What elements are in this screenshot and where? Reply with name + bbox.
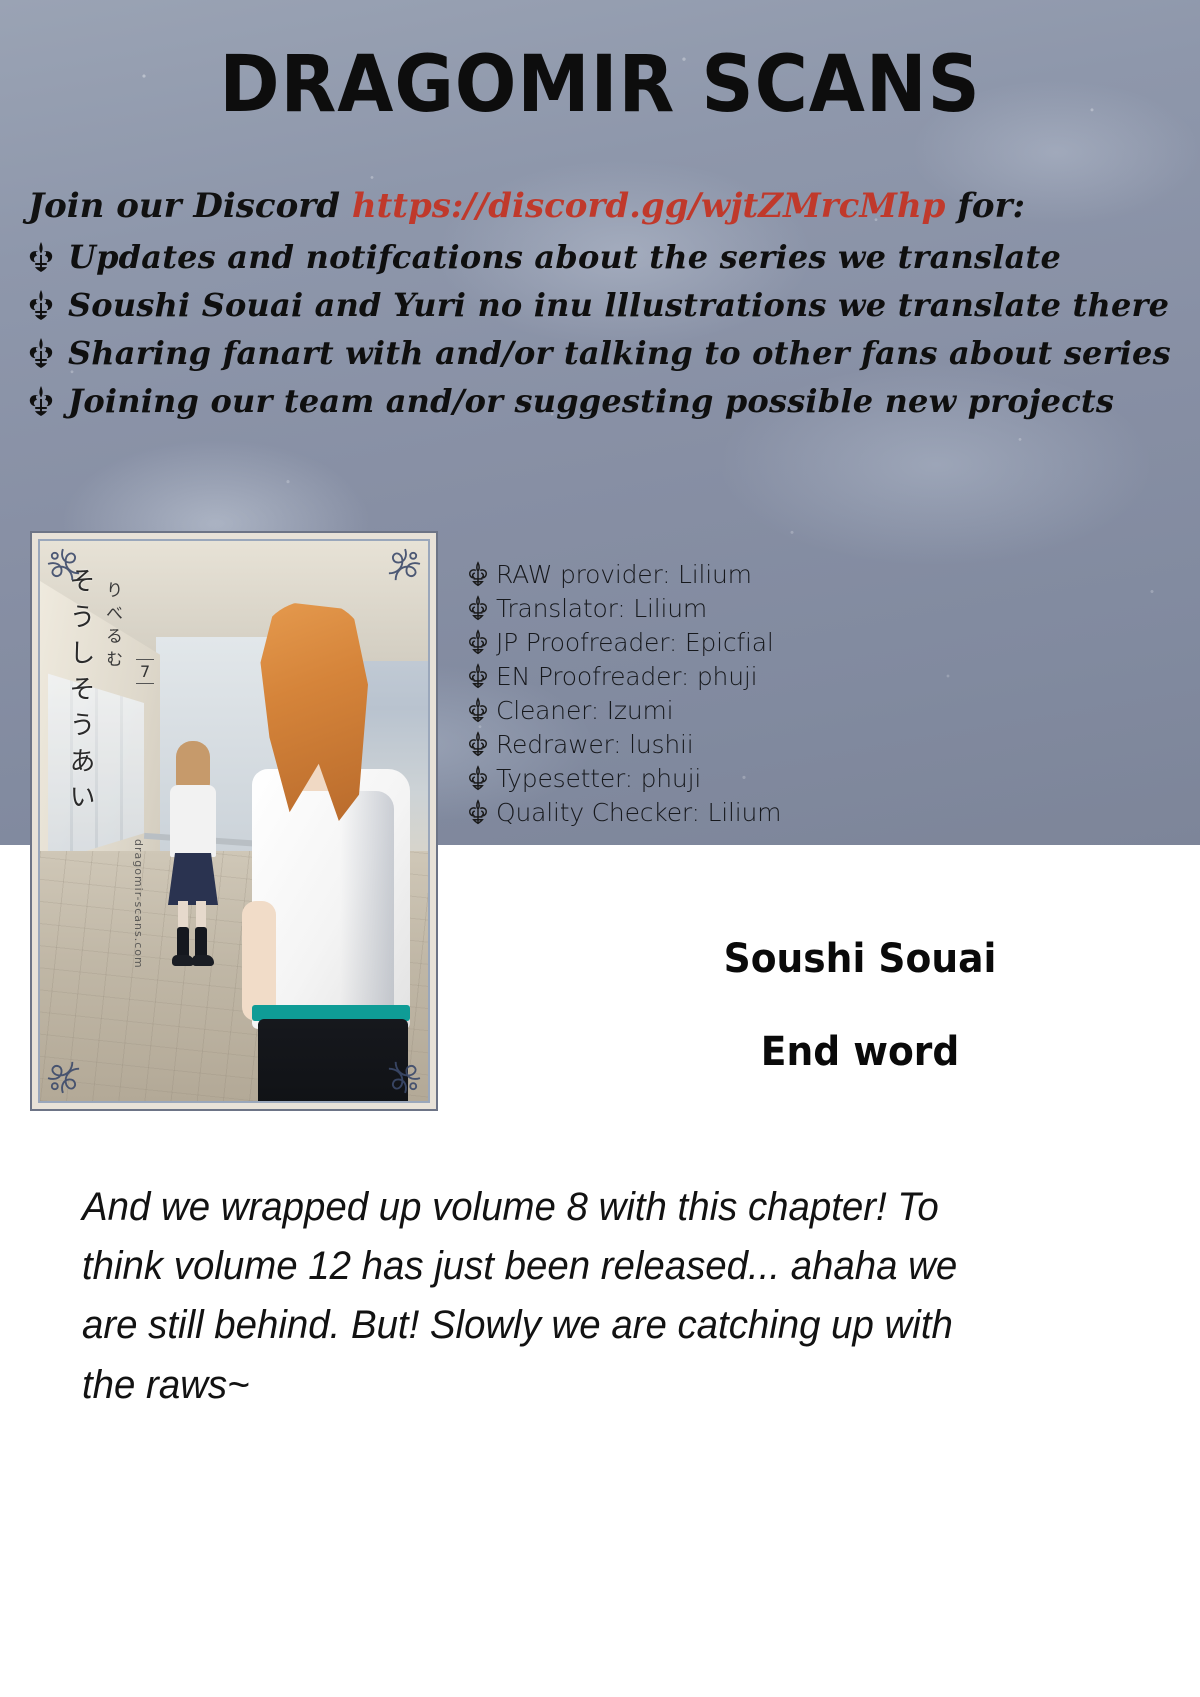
- fleur-de-lis-icon: [466, 595, 490, 621]
- credit-row: Quality Checker: Lilium: [466, 795, 986, 829]
- fleur-de-lis-icon: [28, 338, 54, 368]
- discord-invite-link[interactable]: https://discord.gg/wjtZMrcMhp: [352, 186, 946, 226]
- series-heading-block: Soushi Souai End word: [620, 935, 1100, 1075]
- credit-label: Translator: Lilium: [496, 594, 707, 623]
- cover-watermark: dragomir-scans.com: [132, 839, 145, 969]
- list-item: Soushi Souai and Yuri no inu lllustratio…: [28, 286, 1128, 324]
- credits-list: RAW provider: Lilium Translator: Lilium: [466, 557, 986, 829]
- ornament-corner-icon: [44, 545, 98, 599]
- benefits-list: Updates and notifcations about the serie…: [28, 238, 1128, 430]
- series-subtitle: End word: [634, 1029, 1085, 1075]
- credit-label: RAW provider: Lilium: [496, 560, 752, 589]
- series-title: Soushi Souai: [634, 935, 1085, 983]
- fleur-de-lis-icon: [466, 663, 490, 689]
- cover-subtitle-vertical: りべるむ: [100, 581, 125, 673]
- list-item: Updates and notifcations about the serie…: [28, 238, 1128, 276]
- credit-row: Redrawer: lushii: [466, 727, 986, 761]
- credit-row: Typesetter: phuji: [466, 761, 986, 795]
- credit-label: Redrawer: lushii: [496, 730, 693, 759]
- list-item-label: Soushi Souai and Yuri no inu lllustratio…: [68, 286, 1169, 324]
- credit-row: RAW provider: Lilium: [466, 557, 986, 591]
- cover-title-vertical: そうしそうあい: [62, 567, 99, 819]
- foreground-character: [236, 601, 426, 1103]
- credit-label: EN Proofreader: phuji: [496, 662, 757, 691]
- fleur-de-lis-icon: [466, 629, 490, 655]
- ornament-corner-icon: [370, 545, 424, 599]
- credit-label: JP Proofreader: Epicfial: [496, 628, 774, 657]
- afterword-text: And we wrapped up volume 8 with this cha…: [82, 1178, 1004, 1415]
- fleur-de-lis-icon: [28, 242, 54, 272]
- discord-invite-line: Join our Discord https://discord.gg/wjtZ…: [28, 186, 1025, 226]
- credit-label: Cleaner: Izumi: [496, 696, 673, 725]
- fleur-de-lis-icon: [466, 697, 490, 723]
- fleur-de-lis-icon: [28, 290, 54, 320]
- cover-volume-number: 7: [136, 659, 154, 684]
- page-title: DRAGOMIR SCANS: [42, 46, 1158, 124]
- ornament-corner-icon: [370, 1043, 424, 1097]
- list-item-label: Sharing fanart with and/or talking to ot…: [68, 334, 1171, 372]
- discord-invite-prefix: Join our Discord: [28, 186, 352, 226]
- background-character: [158, 741, 228, 971]
- list-item-label: Updates and notifcations about the serie…: [68, 238, 1061, 276]
- fleur-de-lis-icon: [466, 561, 490, 587]
- credit-row: JP Proofreader: Epicfial: [466, 625, 986, 659]
- list-item: Joining our team and/or suggesting possi…: [28, 382, 1128, 420]
- cover-artwork: そうしそうあい りべるむ 7 dragomir-scans.com: [38, 539, 430, 1103]
- fleur-de-lis-icon: [466, 731, 490, 757]
- fleur-de-lis-icon: [466, 765, 490, 791]
- credit-row: Translator: Lilium: [466, 591, 986, 625]
- discord-invite-suffix: for:: [945, 186, 1025, 226]
- credit-label: Quality Checker: Lilium: [496, 798, 781, 827]
- fleur-de-lis-icon: [28, 386, 54, 416]
- credit-row: EN Proofreader: phuji: [466, 659, 986, 693]
- ornament-corner-icon: [44, 1043, 98, 1097]
- credit-row: Cleaner: Izumi: [466, 693, 986, 727]
- list-item: Sharing fanart with and/or talking to ot…: [28, 334, 1128, 372]
- credit-label: Typesetter: phuji: [496, 764, 701, 793]
- credits-page: DRAGOMIR SCANS Join our Discord https://…: [0, 0, 1200, 1697]
- fleur-de-lis-icon: [466, 799, 490, 825]
- volume-cover-thumbnail: そうしそうあい りべるむ 7 dragomir-scans.com: [30, 531, 438, 1111]
- list-item-label: Joining our team and/or suggesting possi…: [68, 382, 1114, 420]
